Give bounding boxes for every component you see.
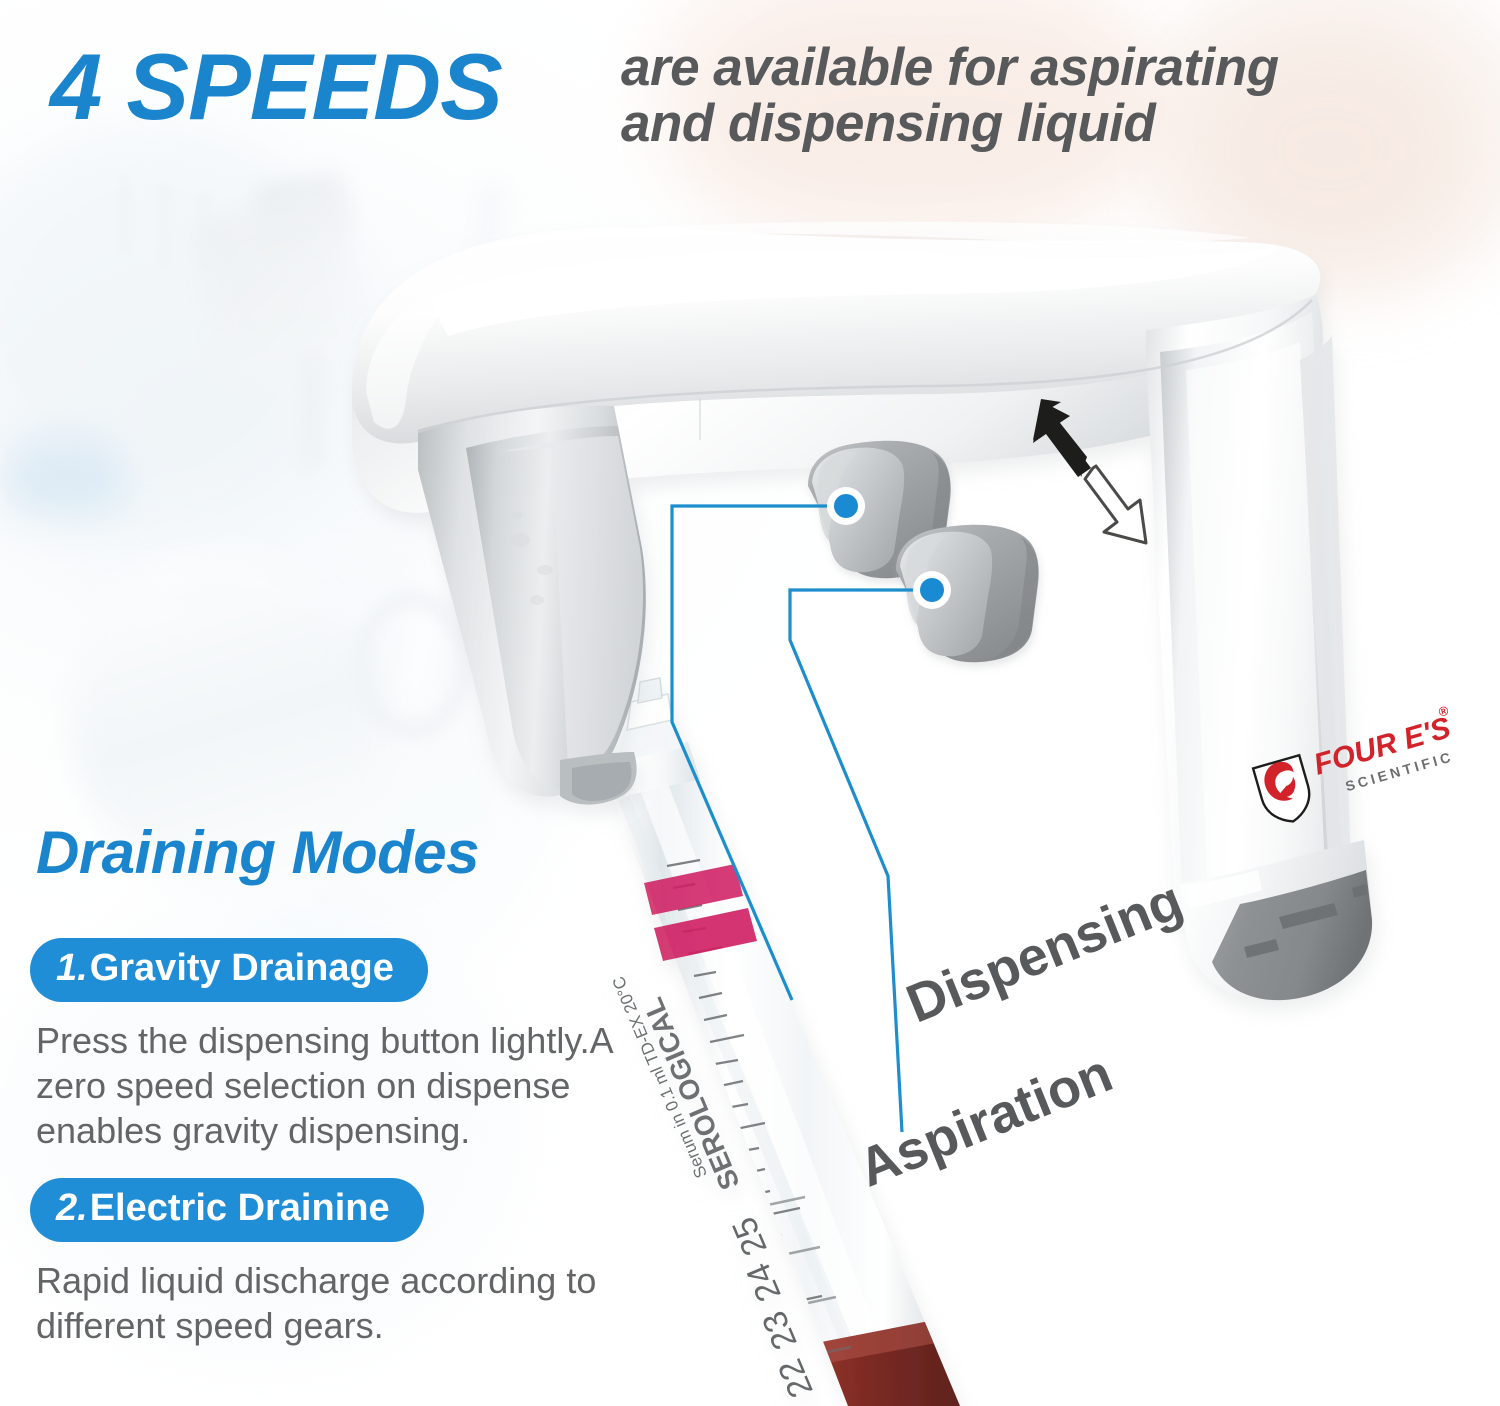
background-blurred-bar <box>200 190 210 268</box>
draining-mode-1-label: Gravity Drainage <box>90 947 394 989</box>
draining-modes-title: Draining Modes <box>36 818 479 887</box>
background-blurred-bar <box>160 182 170 268</box>
headline-subtext: are available for aspirating and dispens… <box>621 40 1341 152</box>
background-blurred-stem <box>300 350 322 470</box>
draining-mode-2-number: 2. <box>56 1187 90 1229</box>
headline-subtext-line2: and dispensing liquid <box>621 96 1341 152</box>
headline-highlight: 4 SPEEDS <box>50 40 502 134</box>
background-blue-glow <box>0 460 130 520</box>
draining-mode-2-body: Rapid liquid discharge according to diff… <box>30 1258 730 1349</box>
draining-mode-item: 1.Gravity Drainage Press the dispensing … <box>30 938 690 1154</box>
draining-mode-2-label: Electric Drainine <box>90 1187 390 1229</box>
draining-mode-2-pill: 2.Electric Drainine <box>30 1178 424 1242</box>
background-blurred-ring <box>352 590 472 740</box>
draining-mode-1-pill: 1.Gravity Drainage <box>30 938 428 1002</box>
draining-mode-1-body: Press the dispensing button lightly.A ze… <box>30 1018 690 1154</box>
headline: 4 SPEEDS are available for aspirating an… <box>0 0 1500 190</box>
draining-mode-1-number: 1. <box>56 947 90 989</box>
draining-mode-item: 2.Electric Drainine Rapid liquid dischar… <box>30 1178 730 1348</box>
headline-subtext-line1: are available for aspirating <box>621 40 1341 96</box>
